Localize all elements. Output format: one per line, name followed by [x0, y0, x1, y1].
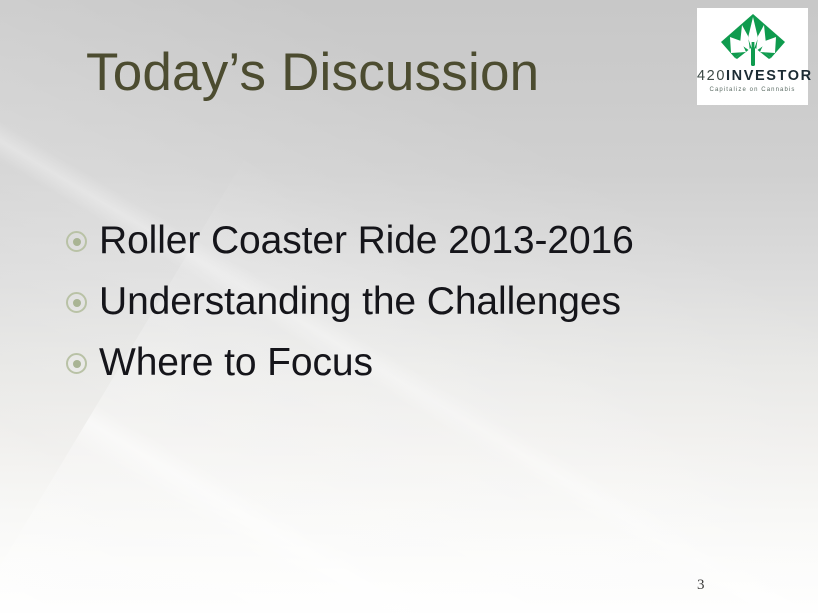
slide-title: Today’s Discussion [86, 42, 539, 104]
list-item: Understanding the Challenges [66, 271, 766, 332]
presentation-slide: Today’s Discussion Roller Coaster Ride 2… [0, 0, 818, 613]
logo-wordmark: 420INVESTOR [697, 68, 808, 84]
bullet-list: Roller Coaster Ride 2013-2016 Understand… [66, 210, 766, 393]
logo-tagline: Capitalize on Cannabis [697, 87, 808, 93]
list-item: Where to Focus [66, 332, 766, 393]
cannabis-leaf-icon [715, 12, 791, 68]
list-item-label: Understanding the Challenges [99, 279, 621, 325]
list-item-label: Roller Coaster Ride 2013-2016 [99, 218, 634, 264]
list-item-label: Where to Focus [99, 340, 373, 386]
ring-dot-bullet-icon [66, 292, 87, 313]
brand-logo: 420INVESTOR Capitalize on Cannabis [697, 8, 808, 105]
logo-word-420: 420 [697, 68, 726, 84]
page-number: 3 [697, 577, 705, 594]
ring-dot-bullet-icon [66, 353, 87, 374]
ring-dot-bullet-icon [66, 231, 87, 252]
logo-word-investor: INVESTOR [726, 68, 813, 84]
list-item: Roller Coaster Ride 2013-2016 [66, 210, 766, 271]
